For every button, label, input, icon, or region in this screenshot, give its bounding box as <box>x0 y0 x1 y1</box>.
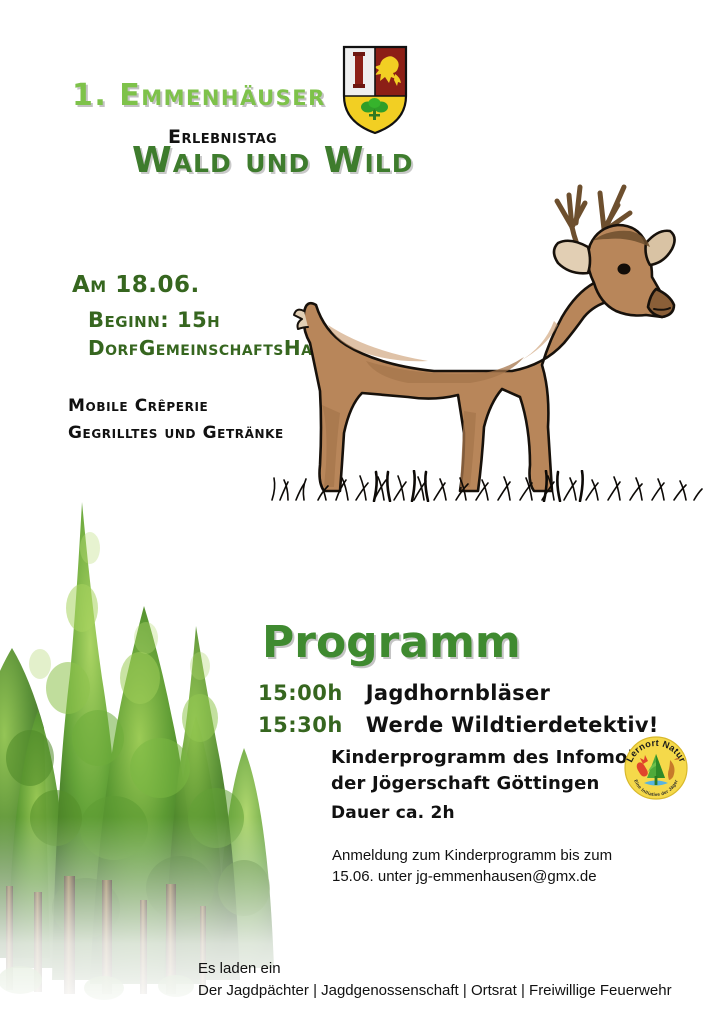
footer-invite-label: Es laden ein <box>198 960 281 977</box>
coat-of-arms-icon <box>341 44 409 136</box>
programm-detail: der Jögerschaft Göttingen <box>331 773 600 794</box>
grass-strip-illustration <box>262 470 707 502</box>
registration-note: Anmeldung zum Kinderprogramm bis zum <box>332 847 612 864</box>
poster-canvas: 1. Emmenhäuser Erlebnistag Wald und Wild <box>0 0 719 1020</box>
programm-detail: Kinderprogramm des Infomobil <box>331 747 653 768</box>
food-creperie: Mobile Crêperie <box>68 396 208 416</box>
page-title: 1. Emmenhäuser <box>72 78 326 113</box>
programm-item-title: Werde Wildtierdetektiv! <box>366 713 659 737</box>
programm-item-time: 15:30h <box>258 713 358 737</box>
programm-item: 15:30h Werde Wildtierdetektiv! <box>258 713 659 737</box>
registration-email: 15.06. unter jg-emmenhausen@gmx.de <box>332 868 597 885</box>
programm-item-title: Jagdhornbläser <box>366 681 550 705</box>
footer-organizers: Der Jagdpächter | Jagdgenossenschaft | O… <box>198 982 672 999</box>
trees-photo <box>0 488 284 1018</box>
programm-item: 15:00h Jagdhornbläser <box>258 681 550 705</box>
event-date: Am 18.06. <box>72 272 200 298</box>
food-grill-drinks: Gegrilltes und Getränke <box>68 423 284 443</box>
programm-heading: Programm <box>262 617 521 668</box>
programm-item-time: 15:00h <box>258 681 358 705</box>
header-block: 1. Emmenhäuser Erlebnistag Wald und Wild <box>0 0 719 190</box>
lernort-natur-logo: Lernort Natur Eine Initiative der Jäger <box>620 732 692 804</box>
programm-duration: Dauer ca. 2h <box>331 803 455 823</box>
event-begin-time: Beginn: 15h <box>88 308 220 332</box>
roe-deer-illustration <box>258 165 708 505</box>
